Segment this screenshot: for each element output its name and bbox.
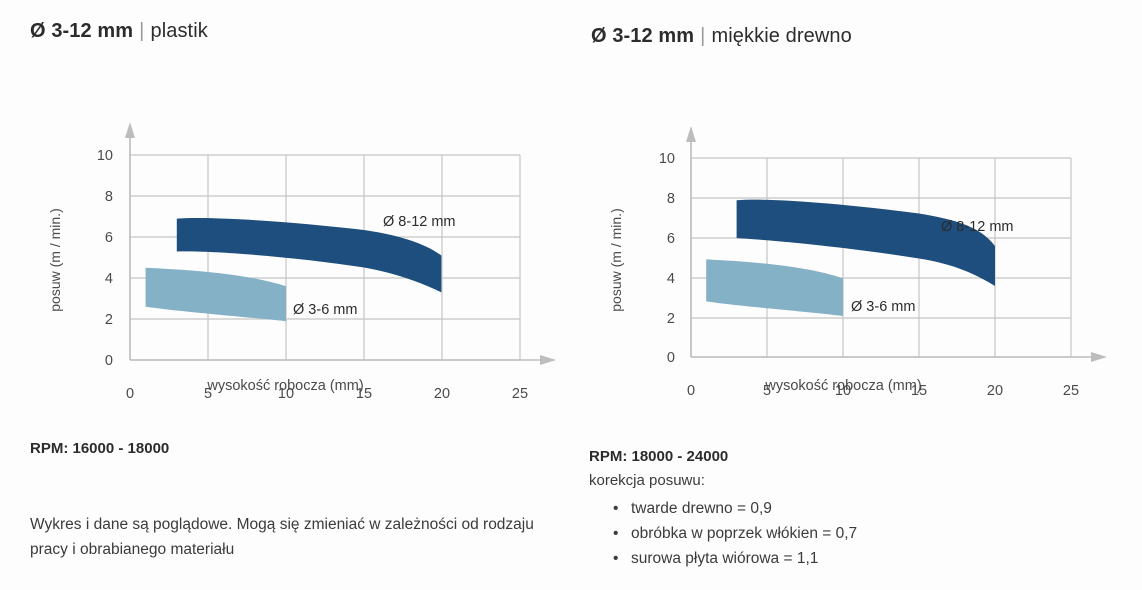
y-axis-title: posuw (m / min.) [608, 208, 624, 311]
ytick-6: 6 [105, 230, 113, 246]
title-separator: | [694, 25, 711, 47]
list-item: twarde drewno = 0,9 [631, 496, 857, 521]
correction-list: twarde drewno = 0,9 obróbka w poprzek wł… [589, 496, 857, 571]
panel-title-plastik: Ø 3-12 mm|plastik [30, 20, 208, 43]
panel-title-miekkie-drewno: Ø 3-12 mm|miękkie drewno [591, 25, 852, 48]
ytick-4: 4 [105, 271, 113, 287]
x-axis-title: wysokość robocza (mm) [0, 378, 571, 394]
rpm-value-plastik: RPM: 16000 - 18000 [30, 440, 169, 457]
band-label-8-12mm: Ø 8-12 mm [941, 219, 1014, 235]
title-diameter: Ø 3-12 mm [591, 25, 694, 47]
y-axis-title: posuw (m / min.) [47, 208, 63, 311]
title-separator: | [133, 20, 150, 42]
chart-plastik: Ø 8-12 mm Ø 3-6 mm 10 8 6 4 2 0 0 5 10 1… [0, 60, 571, 410]
ytick-6: 6 [667, 231, 675, 247]
ytick-10: 10 [97, 148, 113, 164]
band-label-3-6mm: Ø 3-6 mm [293, 302, 357, 318]
title-material: plastik [150, 20, 207, 42]
rpm-value-miekkie-drewno: RPM: 18000 - 24000 [589, 448, 728, 465]
chart-miekkie-drewno: Ø 8-12 mm Ø 3-6 mm 10 8 6 4 2 0 0 5 10 1… [571, 60, 1142, 410]
ytick-8: 8 [105, 189, 113, 205]
list-item: surowa płyta wiórowa = 1,1 [631, 546, 857, 571]
title-diameter: Ø 3-12 mm [30, 20, 133, 42]
disclaimer-note: Wykres i dane są poglądowe. Mogą się zmi… [30, 512, 560, 562]
ytick-4: 4 [667, 271, 675, 287]
ytick-10: 10 [659, 151, 675, 167]
chart-svg-miekkie-drewno: Ø 8-12 mm Ø 3-6 mm 10 8 6 4 2 0 0 5 10 1… [571, 60, 1142, 410]
grid-lines [691, 158, 1071, 357]
title-material: miękkie drewno [711, 25, 851, 47]
ytick-8: 8 [667, 191, 675, 207]
chart-svg-plastik: Ø 8-12 mm Ø 3-6 mm 10 8 6 4 2 0 0 5 10 1… [0, 60, 571, 410]
list-item: obróbka w poprzek włókien = 0,7 [631, 521, 857, 546]
x-axis-title: wysokość robocza (mm) [571, 378, 1116, 394]
ytick-2: 2 [105, 312, 113, 328]
panel-plastik: Ø 3-12 mm|plastik [0, 0, 571, 590]
band-label-3-6mm: Ø 3-6 mm [851, 299, 915, 315]
band-label-8-12mm: Ø 8-12 mm [383, 214, 456, 230]
ytick-0: 0 [667, 350, 675, 366]
band-area-3-6mm [706, 259, 843, 316]
band-area-3-6mm [146, 268, 286, 321]
panel-miekkie-drewno: Ø 3-12 mm|miękkie drewno [571, 0, 1142, 590]
ytick-2: 2 [667, 311, 675, 327]
correction-heading: korekcja posuwu: [589, 472, 705, 489]
ytick-0: 0 [105, 353, 113, 369]
